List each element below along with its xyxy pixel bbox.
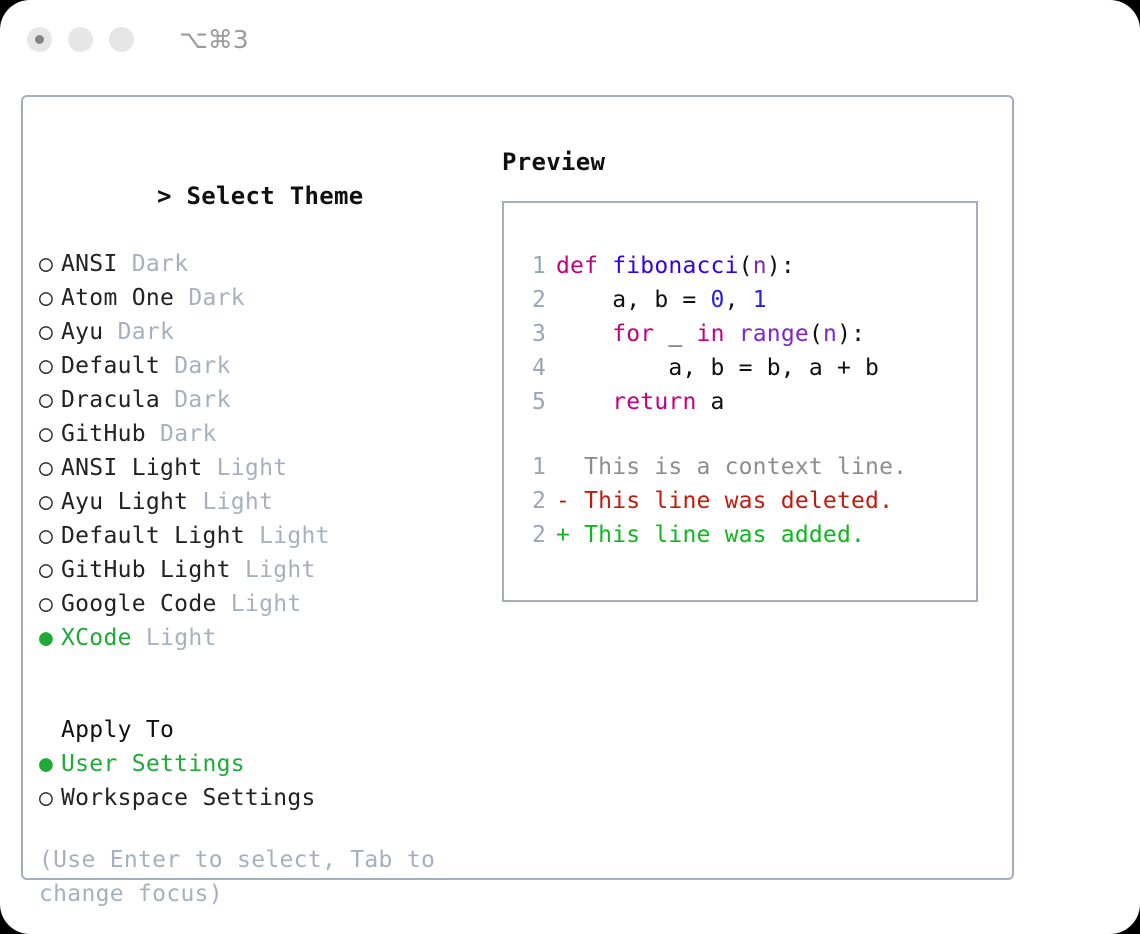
theme-option-kind: Light [146, 625, 217, 651]
radio-selected-icon: ● [39, 747, 61, 781]
code-token-keyword: for [612, 321, 654, 347]
diff-text: This line was deleted. [584, 488, 893, 514]
diff-line-content: This is a context line. [556, 454, 907, 480]
theme-option-kind: Dark [174, 353, 231, 379]
code-token-keyword: def [556, 253, 612, 279]
theme-option-label: Google Code [61, 591, 217, 617]
diff-line-number: 2 [522, 518, 546, 552]
code-line: 5 return a [522, 385, 970, 419]
radio-unselected-icon: ○ [39, 349, 61, 383]
diff-line-content: + This line was added. [556, 522, 865, 548]
diff-line-added: 2+ This line was added. [522, 518, 970, 552]
radio-selected-icon: ● [39, 621, 61, 655]
theme-option-kind: Light [231, 591, 302, 617]
radio-unselected-icon: ○ [39, 553, 61, 587]
apply-to-heading: Apply To [39, 713, 479, 747]
diff-line-number: 2 [522, 484, 546, 518]
close-button[interactable] [27, 27, 52, 52]
code-line: 2 a, b = 0, 1 [522, 283, 970, 317]
code-token-number: 1 [753, 287, 767, 313]
theme-option-xcode[interactable]: ●XCode Light [39, 621, 479, 655]
code-token-plain [556, 321, 612, 347]
code-sample: 1def fibonacci(n):2 a, b = 0, 13 for _ i… [522, 249, 970, 419]
diff-sample: 1 This is a context line.2- This line wa… [522, 450, 970, 552]
theme-option-kind: Light [217, 455, 288, 481]
radio-unselected-icon: ○ [39, 587, 61, 621]
theme-option-kind: Dark [188, 285, 245, 311]
code-token-plain [725, 321, 739, 347]
theme-option-atom-one[interactable]: ○Atom One Dark [39, 281, 479, 315]
code-token-param: n [823, 321, 837, 347]
code-token-keyword: in [697, 321, 725, 347]
code-token-plain: a, b = [556, 287, 711, 313]
code-line-number: 2 [522, 283, 546, 317]
radio-unselected-icon: ○ [39, 383, 61, 417]
preview-column: Preview 1def fibonacci(n):2 a, b = 0, 13… [502, 145, 992, 602]
apply-to-option-user-settings[interactable]: ●User Settings [39, 747, 479, 781]
select-theme-heading: > Select Theme [39, 145, 479, 247]
apply-to-option-label: Workspace Settings [61, 785, 316, 811]
diff-line-number: 1 [522, 450, 546, 484]
theme-option-label: XCode [61, 625, 132, 651]
diff-text: This line was added. [584, 522, 865, 548]
theme-option-label: Default Light [61, 523, 245, 549]
apply-to-option-workspace-settings[interactable]: ○Workspace Settings [39, 781, 479, 815]
radio-unselected-icon: ○ [39, 247, 61, 281]
theme-option-kind: Dark [132, 251, 189, 277]
theme-option-label: Ayu [61, 319, 103, 345]
theme-option-ansi-light[interactable]: ○ANSI Light Light [39, 451, 479, 485]
theme-option-label: Atom One [61, 285, 174, 311]
theme-option-label: Ayu Light [61, 489, 188, 515]
keyboard-hint-text: (Use Enter to select, Tab to change focu… [39, 843, 459, 911]
theme-option-ayu[interactable]: ○Ayu Dark [39, 315, 479, 349]
theme-option-github[interactable]: ○GitHub Dark [39, 417, 479, 451]
code-line: 3 for _ in range(n): [522, 317, 970, 351]
theme-option-github-light[interactable]: ○GitHub Light Light [39, 553, 479, 587]
theme-option-google-code[interactable]: ○Google Code Light [39, 587, 479, 621]
code-token-plain: _ [654, 321, 696, 347]
radio-unselected-icon: ○ [39, 417, 61, 451]
code-token-number: 0 [711, 287, 725, 313]
code-token-plain [556, 389, 612, 415]
code-token-param: n [753, 253, 767, 279]
theme-option-ayu-light[interactable]: ○Ayu Light Light [39, 485, 479, 519]
code-line-number: 1 [522, 249, 546, 283]
theme-option-kind: Light [259, 523, 330, 549]
theme-option-kind: Dark [160, 421, 217, 447]
keyboard-shortcut-label: ⌥⌘3 [179, 27, 249, 52]
theme-option-kind: Light [245, 557, 316, 583]
code-token-plain: , [725, 287, 753, 313]
title-bar: ⌥⌘3 [0, 0, 1140, 78]
diff-text: This is a context line. [584, 454, 907, 480]
code-token-punct: ( [809, 321, 823, 347]
code-token-punct: ( [739, 253, 753, 279]
code-token-punct: ): [837, 321, 865, 347]
radio-unselected-icon: ○ [39, 781, 61, 815]
apply-to-option-label: User Settings [61, 751, 245, 777]
theme-option-kind: Dark [118, 319, 175, 345]
theme-option-ansi[interactable]: ○ANSI Dark [39, 247, 479, 281]
theme-option-dracula[interactable]: ○Dracula Dark [39, 383, 479, 417]
heading-text: Select Theme [187, 182, 364, 210]
diff-marker [556, 454, 584, 480]
preview-heading: Preview [502, 145, 992, 179]
app-window: ⌥⌘3 > Select Theme ○ANSI Dark○Atom One D… [0, 0, 1140, 934]
radio-unselected-icon: ○ [39, 519, 61, 553]
theme-option-label: ANSI Light [61, 455, 202, 481]
window-controls [27, 27, 134, 52]
heading-prompt-arrow: > [157, 182, 187, 210]
theme-option-label: GitHub [61, 421, 146, 447]
code-line: 1def fibonacci(n): [522, 249, 970, 283]
theme-option-default[interactable]: ○Default Dark [39, 349, 479, 383]
theme-option-kind: Light [202, 489, 273, 515]
theme-list-column: > Select Theme ○ANSI Dark○Atom One Dark○… [39, 145, 479, 655]
theme-option-label: ANSI [61, 251, 118, 277]
code-token-plain: a [697, 389, 725, 415]
code-line: 4 a, b = b, a + b [522, 351, 970, 385]
code-token-builtin: range [739, 321, 809, 347]
maximize-button[interactable] [109, 27, 134, 52]
radio-unselected-icon: ○ [39, 451, 61, 485]
theme-option-label: GitHub Light [61, 557, 231, 583]
theme-list: ○ANSI Dark○Atom One Dark○Ayu Dark○Defaul… [39, 247, 479, 655]
theme-option-kind: Dark [174, 387, 231, 413]
code-token-keyword: return [612, 389, 696, 415]
theme-picker-panel: > Select Theme ○ANSI Dark○Atom One Dark○… [21, 95, 1014, 880]
code-line-number: 3 [522, 317, 546, 351]
code-line-number: 4 [522, 351, 546, 385]
theme-option-default-light[interactable]: ○Default Light Light [39, 519, 479, 553]
radio-unselected-icon: ○ [39, 315, 61, 349]
code-line-number: 5 [522, 385, 546, 419]
code-token-func: fibonacci [612, 253, 738, 279]
code-token-plain: a, b = b, a + b [556, 355, 879, 381]
radio-unselected-icon: ○ [39, 485, 61, 519]
preview-box: 1def fibonacci(n):2 a, b = 0, 13 for _ i… [502, 201, 978, 602]
apply-to-section: Apply To ●User Settings○Workspace Settin… [39, 713, 479, 815]
diff-marker: - [556, 488, 584, 514]
theme-option-label: Default [61, 353, 160, 379]
diff-line-removed: 2- This line was deleted. [522, 484, 970, 518]
radio-unselected-icon: ○ [39, 281, 61, 315]
code-token-punct: ): [767, 253, 795, 279]
diff-line-context: 1 This is a context line. [522, 450, 970, 484]
minimize-button[interactable] [68, 27, 93, 52]
theme-option-label: Dracula [61, 387, 160, 413]
diff-marker: + [556, 522, 584, 548]
apply-to-options: ●User Settings○Workspace Settings [39, 747, 479, 815]
diff-line-content: - This line was deleted. [556, 488, 893, 514]
